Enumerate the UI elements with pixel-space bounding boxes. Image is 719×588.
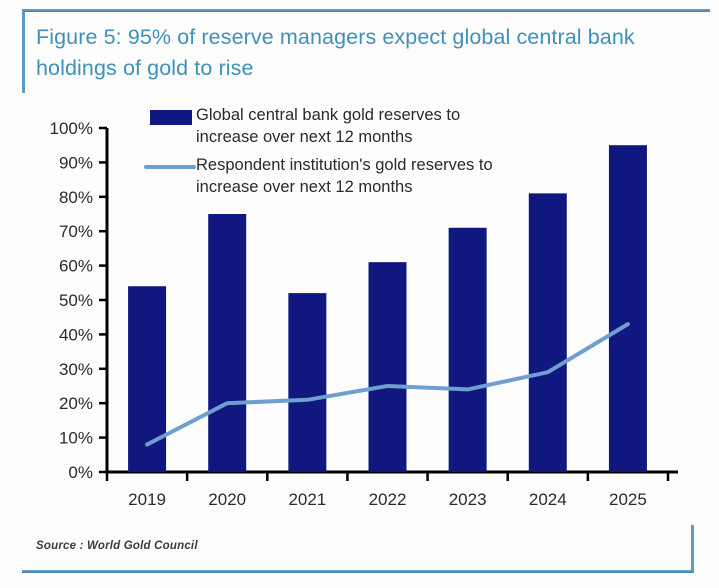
legend-label-line2: increase over next 12 months (196, 178, 412, 196)
chart-container: 0%10%20%30%40%50%60%70%80%90%100%2019202… (0, 96, 719, 516)
right-accent-rule (691, 525, 694, 573)
x-axis-tick-label: 2025 (609, 490, 647, 509)
y-axis-tick-label: 0% (68, 463, 93, 482)
x-axis-tick-label: 2024 (529, 490, 567, 509)
page-title: Figure 5: 95% of reserve managers expect… (36, 22, 686, 84)
bar (208, 214, 246, 472)
x-axis-tick-label: 2021 (288, 490, 326, 509)
chart-svg: 0%10%20%30%40%50%60%70%80%90%100%2019202… (0, 96, 719, 516)
left-accent-rule (22, 11, 25, 93)
x-axis-tick-label: 2023 (449, 490, 487, 509)
legend-bar-swatch-icon (150, 110, 192, 125)
bottom-divider (22, 570, 694, 573)
y-axis-tick-label: 50% (59, 291, 93, 310)
y-axis-tick-label: 10% (59, 429, 93, 448)
y-axis-tick-label: 40% (59, 325, 93, 344)
bar (609, 145, 647, 472)
bar (449, 228, 487, 472)
bar (288, 293, 326, 472)
figure-card: Figure 5: 95% of reserve managers expect… (0, 0, 719, 588)
x-axis-tick-label: 2020 (208, 490, 246, 509)
top-divider (22, 9, 710, 12)
y-axis-tick-label: 80% (59, 188, 93, 207)
source-note: Source : World Gold Council (36, 540, 198, 552)
x-axis-tick-label: 2019 (128, 490, 166, 509)
y-axis-tick-label: 90% (59, 153, 93, 172)
y-axis-tick-label: 60% (59, 257, 93, 276)
chart-legend: Global central bank gold reserves toincr… (146, 106, 493, 196)
x-axis-tick-label: 2022 (369, 490, 407, 509)
legend-label-line2: increase over next 12 months (196, 128, 412, 146)
bar (369, 262, 407, 472)
y-axis-tick-label: 20% (59, 394, 93, 413)
legend-label-line1: Global central bank gold reserves to (196, 106, 460, 124)
y-axis-tick-label: 70% (59, 222, 93, 241)
bar (529, 193, 567, 472)
y-axis-tick-label: 100% (50, 119, 93, 138)
y-axis-tick-label: 30% (59, 360, 93, 379)
legend-label-line1: Respondent institution's gold reserves t… (196, 156, 493, 174)
